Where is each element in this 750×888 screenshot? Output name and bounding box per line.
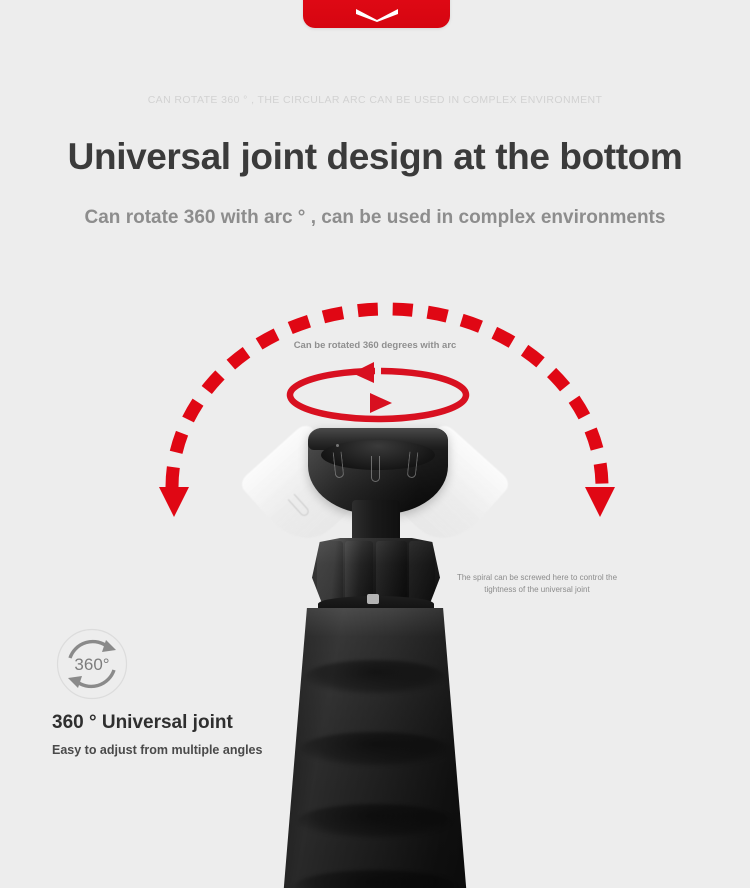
collar-facet xyxy=(317,541,343,602)
product-feature-page: CAN ROTATE 360 ° , THE CIRCULAR ARC CAN … xyxy=(0,0,750,888)
tripod-handle-body xyxy=(283,608,467,888)
collar-notch xyxy=(367,594,379,604)
collar-facet xyxy=(345,541,373,602)
joint-head-dot xyxy=(336,444,339,447)
collar-annotation: The spiral can be screwed here to contro… xyxy=(448,572,626,595)
collar-facet xyxy=(409,541,435,602)
collar-facet xyxy=(376,541,407,602)
grip-ridge xyxy=(301,732,448,766)
360-icon-label: 360° xyxy=(74,655,109,674)
grip-ridge xyxy=(298,804,453,838)
grip-ridge xyxy=(294,870,456,888)
feature-title: 360 ° Universal joint xyxy=(52,712,233,734)
ghost-slot-icon xyxy=(288,494,311,518)
joint-slot xyxy=(371,456,380,482)
grip-ridge xyxy=(305,660,445,694)
feature-subtitle: Easy to adjust from multiple angles xyxy=(52,743,262,757)
360-rotation-icon: 360° xyxy=(56,628,128,700)
